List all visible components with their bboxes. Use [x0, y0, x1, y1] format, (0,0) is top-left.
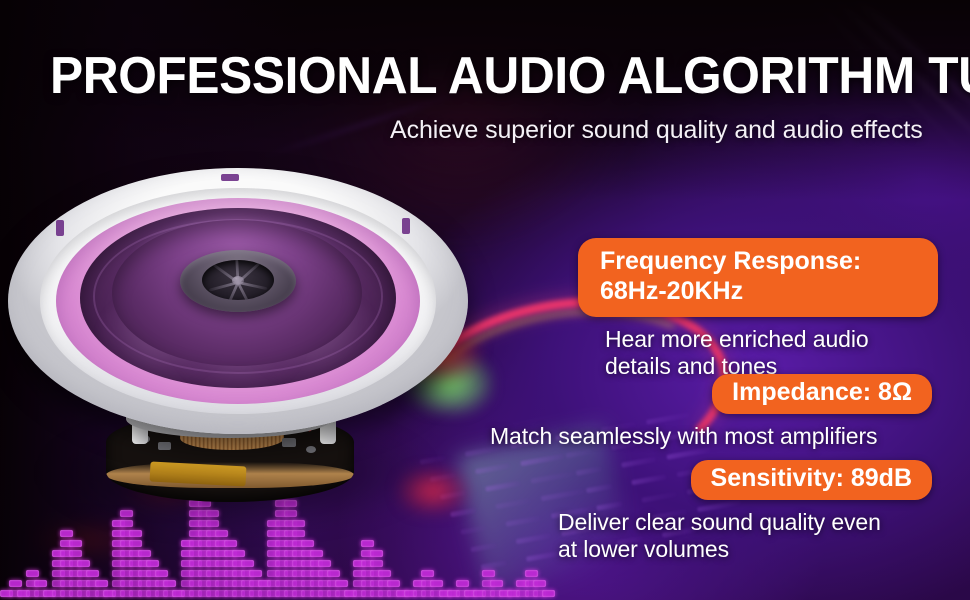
equalizer-cell	[387, 580, 400, 587]
tweeter-blade	[237, 261, 261, 283]
equalizer-cell	[34, 580, 47, 587]
speaker-mount-clip	[402, 218, 410, 234]
equalizer-column	[542, 590, 555, 600]
equalizer-cell	[77, 560, 90, 567]
caption-sensitivity: Deliver clear sound quality even at lowe…	[558, 509, 932, 563]
equalizer-cell	[525, 570, 538, 577]
promo-banner: PROFESSIONAL AUDIO ALGORITHM TUNING Achi…	[0, 0, 970, 600]
speaker-mount-clip	[221, 174, 239, 181]
badge-sensitivity: Sensitivity: 89dB	[691, 460, 932, 500]
equalizer-cell	[249, 570, 262, 577]
equalizer-cell	[421, 570, 434, 577]
equalizer-cell	[430, 580, 443, 587]
feature-sensitivity: Sensitivity: 89dB Deliver clear sound qu…	[540, 460, 932, 563]
equalizer-cell	[361, 540, 374, 547]
equalizer-cell	[318, 560, 331, 567]
page-title: PROFESSIONAL AUDIO ALGORITHM TUNING	[50, 50, 900, 102]
equalizer-cell	[69, 540, 82, 547]
equalizer-cell	[60, 530, 73, 537]
equalizer-cell	[310, 550, 323, 557]
speaker-terminal	[282, 438, 296, 447]
equalizer-cell	[129, 530, 142, 537]
equalizer-cell	[146, 560, 159, 567]
equalizer-cell	[490, 580, 503, 587]
equalizer-cell	[370, 560, 383, 567]
equalizer-cell	[292, 530, 305, 537]
speaker-terminal	[158, 442, 171, 450]
equalizer-cell	[95, 580, 108, 587]
feature-frequency-response: Frequency Response: 68Hz-20KHz Hear more…	[578, 238, 938, 380]
speaker-mount-clip	[56, 220, 64, 236]
badge-impedance: Impedance: 8Ω	[712, 374, 932, 414]
equalizer-cell	[335, 580, 348, 587]
equalizer-cell	[9, 580, 22, 587]
equalizer-cell	[86, 570, 99, 577]
speaker-product-image	[8, 168, 488, 528]
equalizer-cell	[129, 540, 142, 547]
equalizer-cell	[370, 550, 383, 557]
equalizer-cell	[138, 550, 151, 557]
equalizer-cell	[26, 570, 39, 577]
speaker-terminal	[306, 446, 316, 453]
page-subtitle: Achieve superior sound quality and audio…	[390, 116, 923, 145]
equalizer-cell	[378, 570, 391, 577]
caption-frequency-response: Hear more enriched audio details and ton…	[605, 326, 938, 380]
equalizer-cell	[301, 540, 314, 547]
equalizer-cell	[456, 580, 469, 587]
equalizer-cell	[542, 590, 555, 597]
equalizer-cell	[482, 570, 495, 577]
badge-frequency-response: Frequency Response: 68Hz-20KHz	[578, 238, 938, 317]
equalizer-cell	[241, 560, 254, 567]
caption-impedance: Match seamlessly with most amplifiers	[490, 423, 932, 450]
equalizer-cell	[232, 550, 245, 557]
equalizer-cell	[224, 540, 237, 547]
equalizer-cell	[215, 530, 228, 537]
equalizer-cell	[533, 580, 546, 587]
equalizer-cell	[163, 580, 176, 587]
equalizer-cell	[69, 550, 82, 557]
speaker-tweeter	[202, 260, 274, 300]
feature-impedance: Impedance: 8Ω Match seamlessly with most…	[470, 374, 932, 450]
equalizer-cell	[155, 570, 168, 577]
equalizer-cell	[327, 570, 340, 577]
